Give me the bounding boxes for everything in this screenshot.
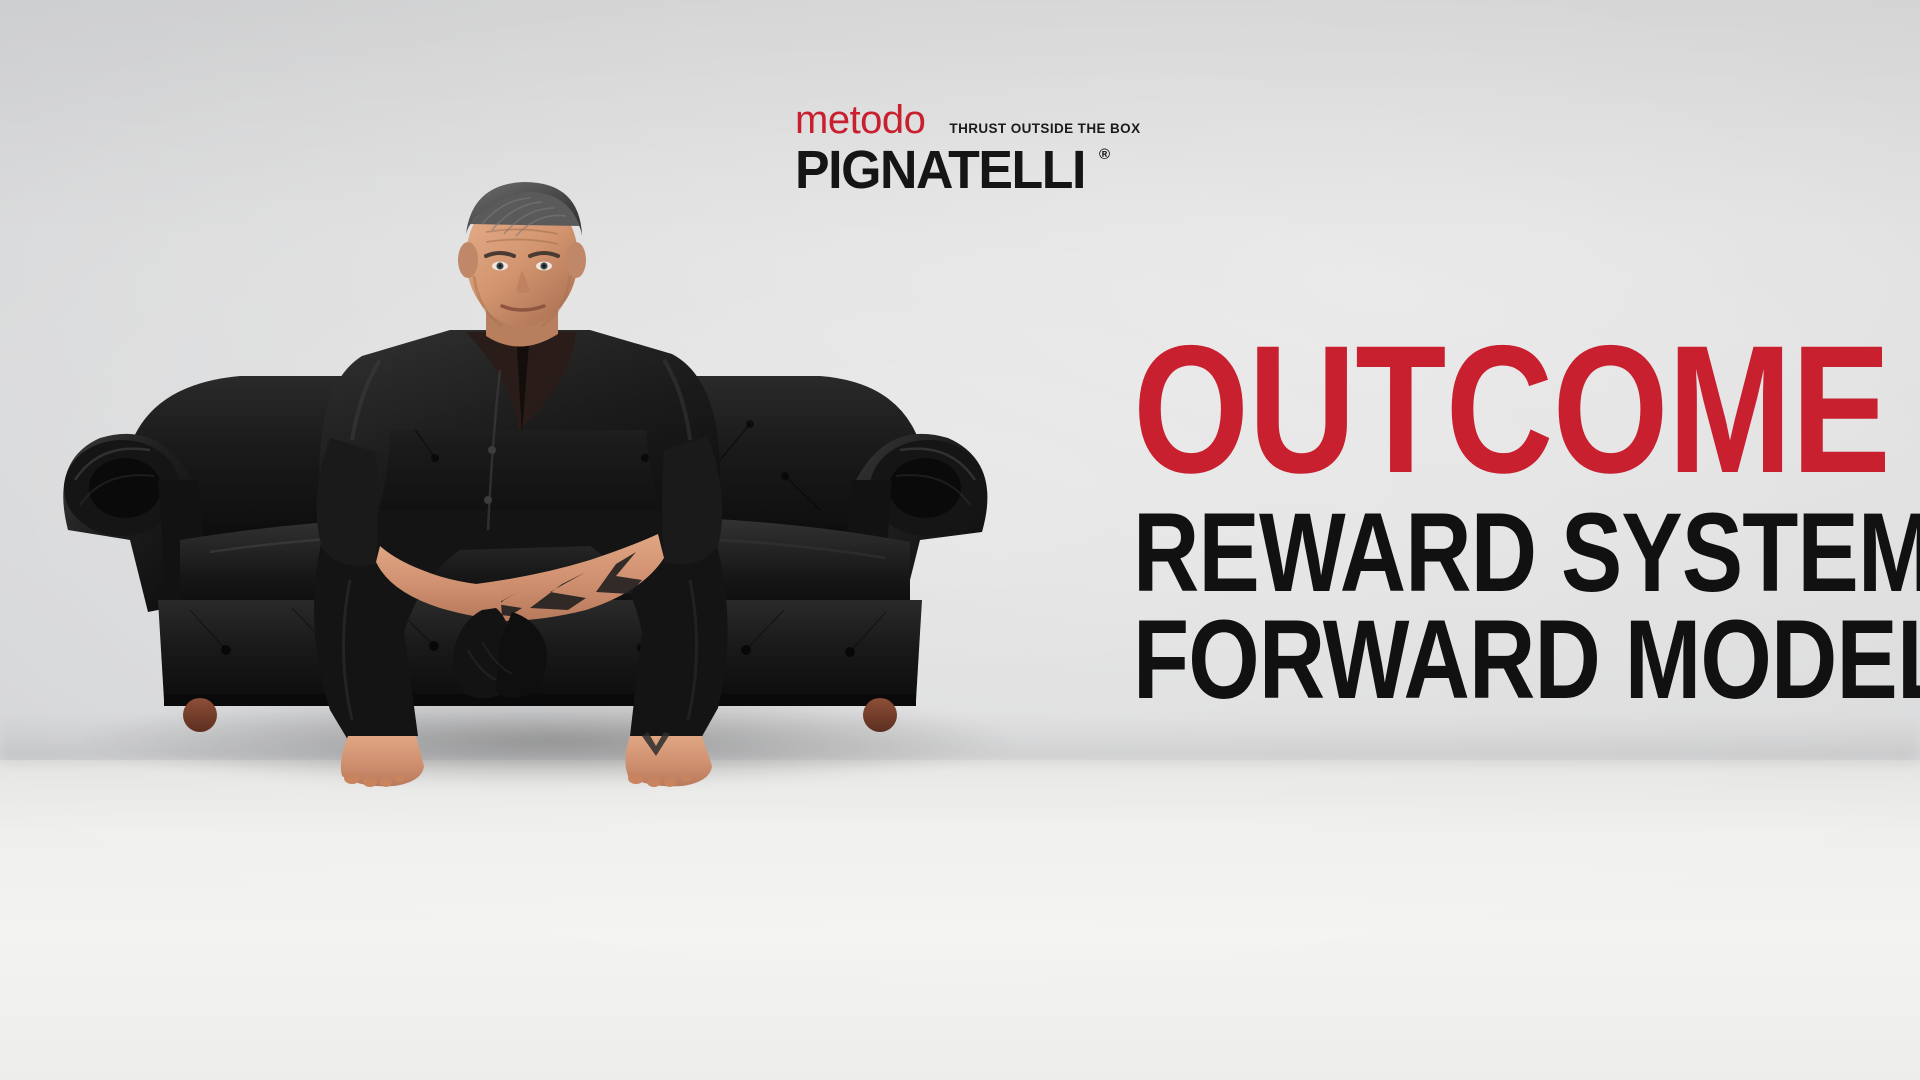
headline-block: OUTCOME REWARD SYSTEM & FORWARD MODEL [1133, 326, 1833, 712]
logo-pignatelli-text: PIGNATELLI [795, 142, 1085, 199]
photo-illustration [30, 180, 1110, 970]
headline-line-outcome: OUTCOME [1133, 326, 1707, 493]
logo-metodo-text: metodo [795, 100, 925, 140]
bare-foot-right [625, 732, 712, 787]
bare-foot-left [341, 736, 424, 787]
headline-line-reward-system: REWARD SYSTEM & [1133, 501, 1707, 604]
sofa-foot-left [183, 698, 217, 732]
logo-bottom-row: PIGNATELLI ® [795, 142, 1175, 199]
brand-logo[interactable]: metodo THRUST OUTSIDE THE BOX PIGNATELLI… [795, 100, 1175, 199]
hero-photo [30, 180, 1110, 970]
logo-top-row: metodo THRUST OUTSIDE THE BOX [795, 100, 1175, 140]
registered-trademark-icon: ® [1099, 146, 1110, 163]
logo-tagline: THRUST OUTSIDE THE BOX [949, 122, 1140, 141]
sofa-foot-right [863, 698, 897, 732]
headline-line-forward-model: FORWARD MODEL [1133, 608, 1707, 711]
